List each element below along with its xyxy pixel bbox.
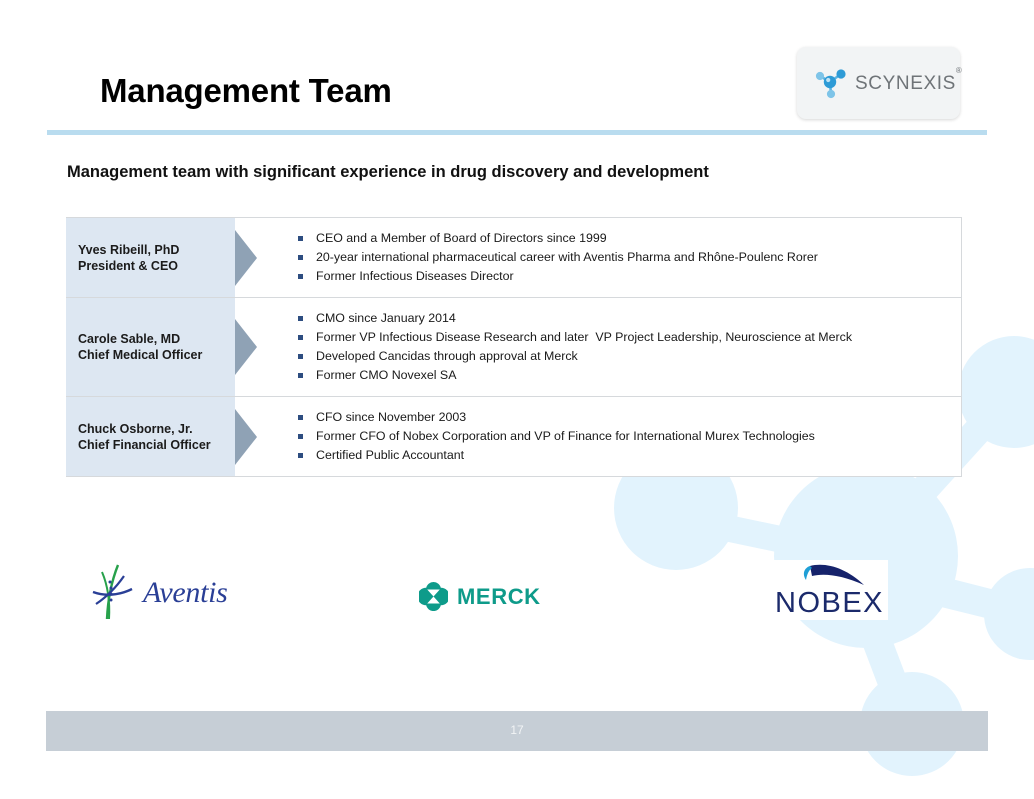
nobex-logo: NOBEX [771,560,888,620]
table-row: Carole Sable, MD Chief Medical Officer C… [66,298,961,397]
arrow-cell [235,298,275,396]
registered-trademark-icon: ® [956,66,963,75]
merck-wordmark: MERCK [457,584,541,610]
team-member-title: President & CEO [78,258,235,274]
team-member-name-cell: Yves Ribeill, PhD President & CEO [66,218,235,297]
nobex-swoosh-icon [784,562,876,588]
team-member-name: Carole Sable, MD [78,331,235,347]
list-item: CFO since November 2003 [296,408,951,427]
team-member-title: Chief Medical Officer [78,347,235,363]
team-member-title: Chief Financial Officer [78,437,235,453]
aventis-wordmark: Aventis [143,576,228,610]
chevron-right-icon [235,409,269,465]
bullet-list: CMO since January 2014 Former VP Infecti… [296,309,951,385]
page-title: Management Team [100,72,392,110]
list-item: Former CMO Novexel SA [296,366,951,385]
molecule-icon [811,63,851,103]
team-member-bullets: CMO since January 2014 Former VP Infecti… [275,298,961,396]
list-item: Certified Public Accountant [296,446,951,465]
page-number: 17 [46,723,988,737]
nobex-wordmark: NOBEX [775,588,884,618]
list-item: Former CFO of Nobex Corporation and VP o… [296,427,951,446]
team-member-name: Chuck Osborne, Jr. [78,421,235,437]
arrow-cell [235,218,275,297]
team-member-bullets: CFO since November 2003 Former CFO of No… [275,397,961,476]
arrow-cell [235,397,275,476]
merck-logo: MERCK [419,582,541,611]
scynexis-wordmark-text: SCYNEXIS [855,73,956,94]
aventis-logo: Aventis [88,562,228,624]
table-row: Chuck Osborne, Jr. Chief Financial Offic… [66,397,961,476]
footer-bar: 17 [46,711,988,751]
bullet-list: CFO since November 2003 Former CFO of No… [296,408,951,465]
table-row: Yves Ribeill, PhD President & CEO CEO an… [66,218,961,298]
title-accent-rule [47,130,987,135]
slide-subtitle: Management team with significant experie… [67,163,709,182]
list-item: Developed Cancidas through approval at M… [296,347,951,366]
partner-logo-strip: Aventis MERCK NOBEX [66,552,962,642]
chevron-right-icon [235,230,269,286]
slide-canvas: Management Team SCYNEXIS® Management tea… [0,0,1034,799]
bullet-list: CEO and a Member of Board of Directors s… [296,229,951,286]
chevron-right-icon [235,319,269,375]
team-member-bullets: CEO and a Member of Board of Directors s… [275,218,961,297]
merck-clover-icon [419,582,448,611]
list-item: CEO and a Member of Board of Directors s… [296,229,951,248]
team-member-name-cell: Chuck Osborne, Jr. Chief Financial Offic… [66,397,235,476]
scynexis-wordmark: SCYNEXIS® [855,73,962,95]
aventis-plant-icon [88,562,142,624]
team-member-name: Yves Ribeill, PhD [78,242,235,258]
list-item: 20-year international pharmaceutical car… [296,248,951,267]
team-member-name-cell: Carole Sable, MD Chief Medical Officer [66,298,235,396]
list-item: CMO since January 2014 [296,309,951,328]
scynexis-logo: SCYNEXIS® [797,47,960,119]
list-item: Former Infectious Diseases Director [296,267,951,286]
list-item: Former VP Infectious Disease Research an… [296,328,951,347]
management-team-table: Yves Ribeill, PhD President & CEO CEO an… [66,217,962,477]
